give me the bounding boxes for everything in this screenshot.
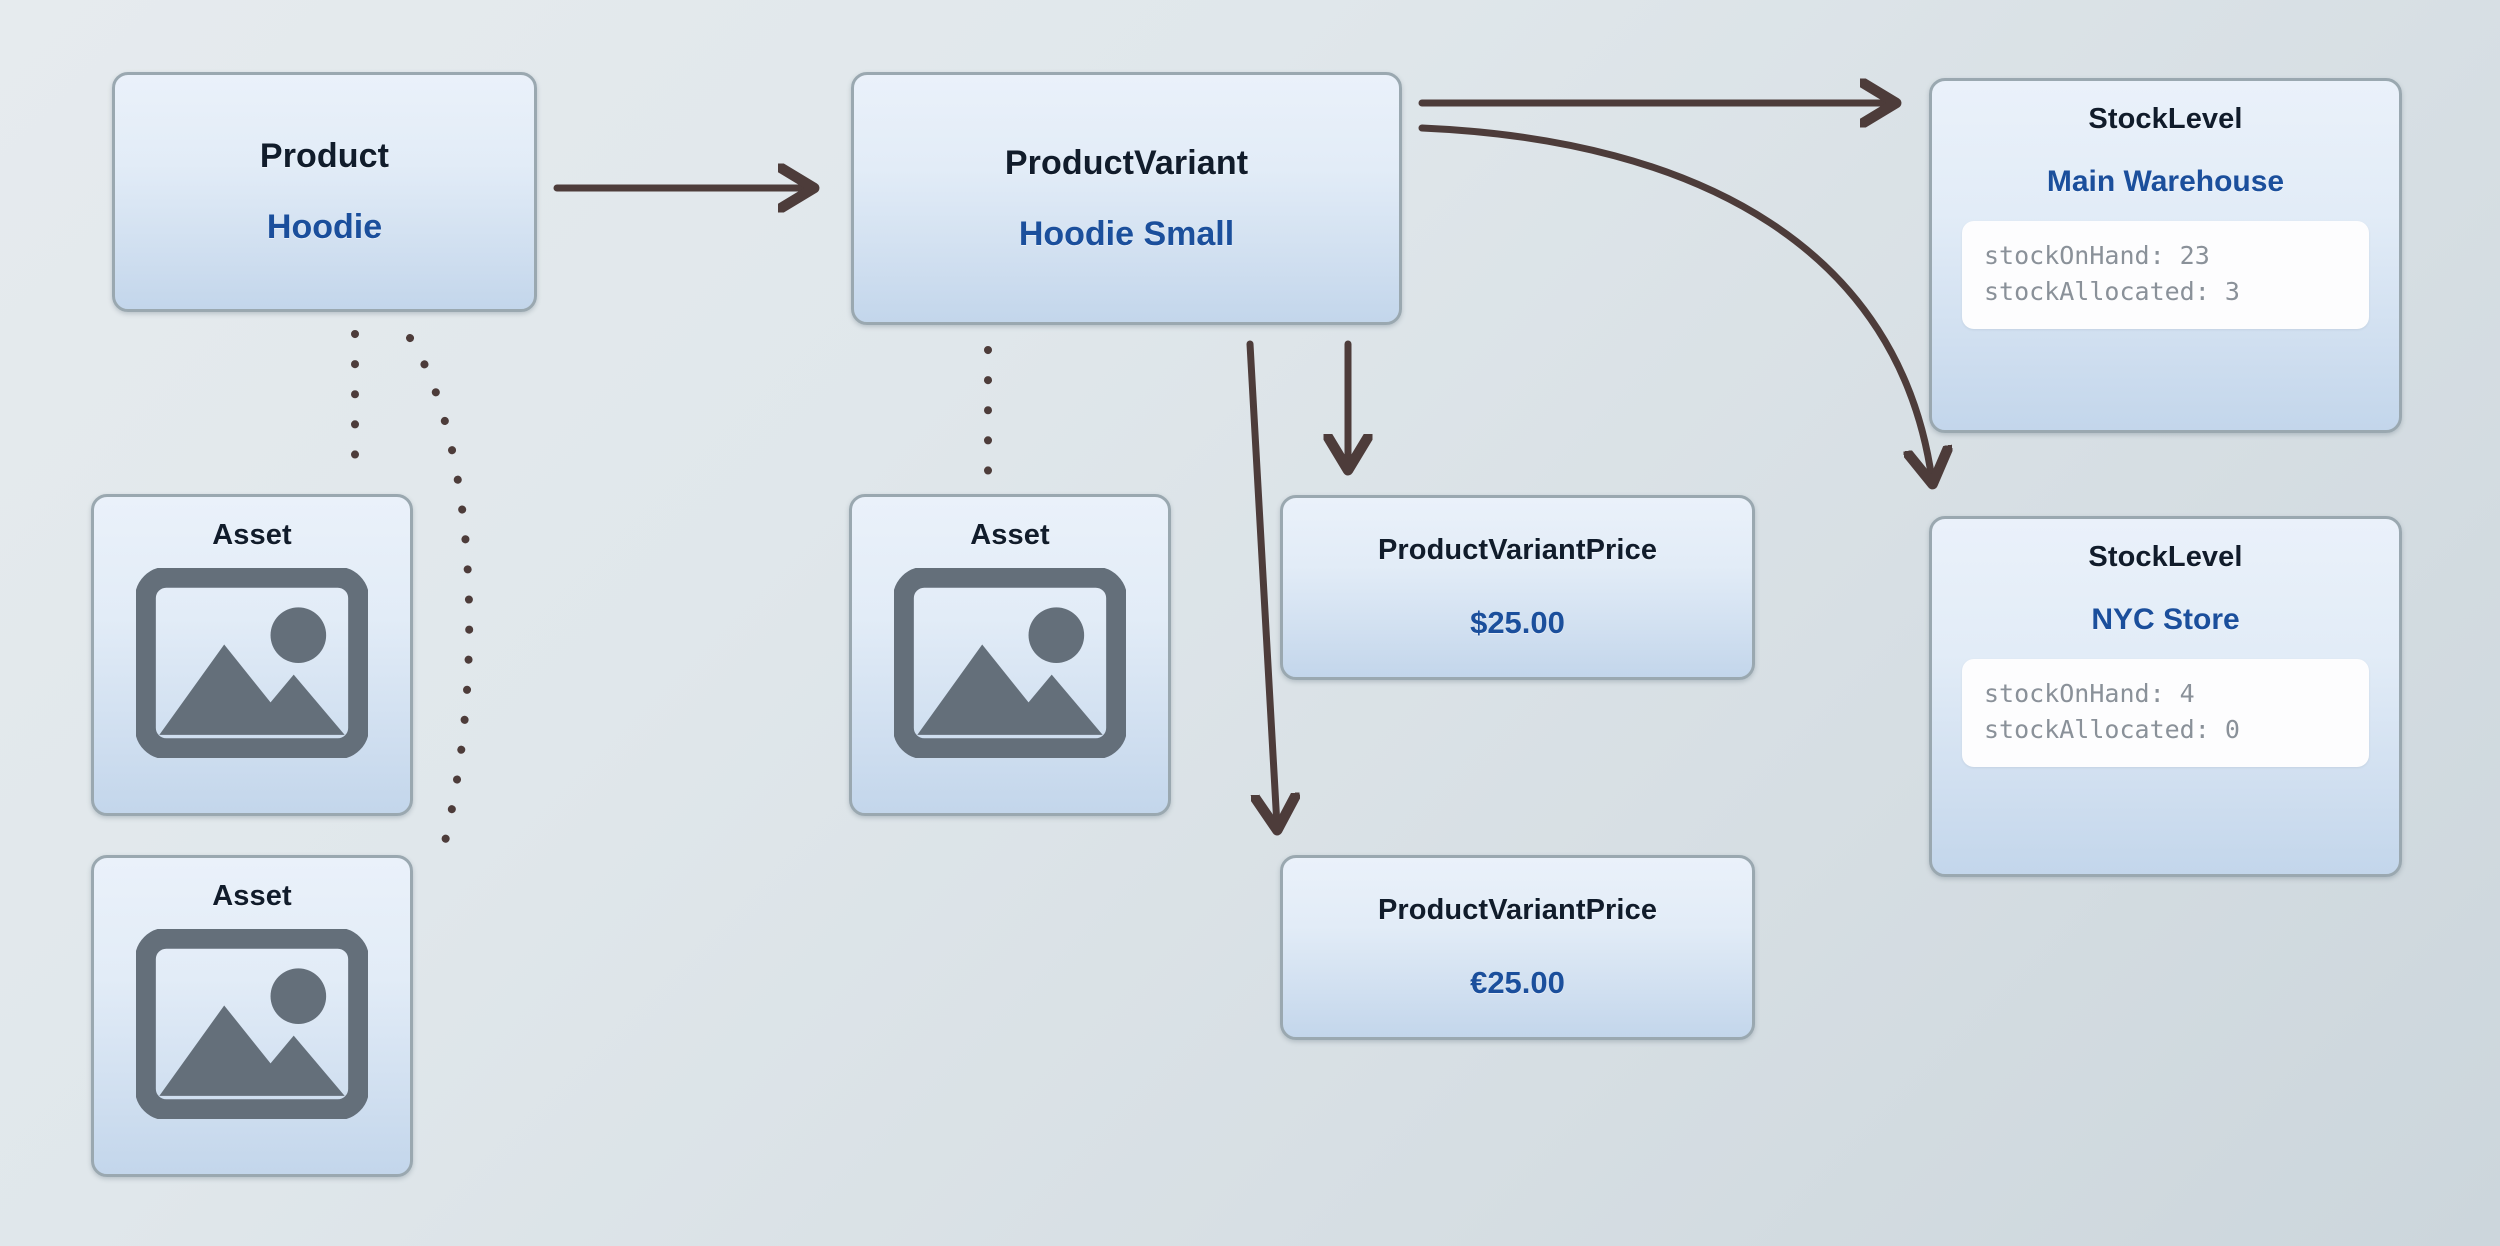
node-stock-nyc-subtitle: NYC Store: [2091, 603, 2239, 637]
node-stock-main-warehouse[interactable]: StockLevel Main Warehouse stockOnHand: 2…: [1929, 78, 2402, 433]
node-stock-main-subtitle: Main Warehouse: [2047, 165, 2284, 199]
stock-main-fields: stockOnHand: 23 stockAllocated: 3: [1962, 221, 2369, 329]
node-stock-nyc-title: StockLevel: [2088, 541, 2242, 574]
edge-product-to-asset-2: [410, 338, 469, 862]
node-asset-variant-1[interactable]: Asset: [849, 494, 1171, 816]
edge-variant-to-price-eur: [1250, 344, 1277, 826]
node-stock-nyc-store[interactable]: StockLevel NYC Store stockOnHand: 4 stoc…: [1929, 516, 2402, 877]
node-asset-product-2-title: Asset: [212, 880, 292, 913]
node-product-variant[interactable]: ProductVariant Hoodie Small: [851, 72, 1402, 325]
node-asset-variant-1-title: Asset: [970, 519, 1050, 552]
node-price-eur[interactable]: ProductVariantPrice €25.00: [1280, 855, 1755, 1040]
node-product-variant-title: ProductVariant: [1005, 144, 1248, 183]
node-product[interactable]: Product Hoodie: [112, 72, 537, 312]
entity-relationship-diagram: Product Hoodie ProductVariant Hoodie Sma…: [0, 0, 2500, 1246]
node-product-variant-subtitle: Hoodie Small: [1019, 215, 1234, 254]
node-price-usd[interactable]: ProductVariantPrice $25.00: [1280, 495, 1755, 680]
node-price-usd-value: $25.00: [1470, 605, 1565, 641]
node-product-title: Product: [260, 137, 389, 176]
stock-nyc-on-hand: stockOnHand: 4: [1984, 676, 2349, 712]
image-placeholder-icon: [136, 929, 368, 1119]
stock-nyc-fields: stockOnHand: 4 stockAllocated: 0: [1962, 659, 2369, 767]
node-price-usd-title: ProductVariantPrice: [1378, 534, 1657, 567]
stock-main-allocated: stockAllocated: 3: [1984, 274, 2349, 310]
node-stock-main-title: StockLevel: [2088, 103, 2242, 136]
node-price-eur-value: €25.00: [1470, 965, 1565, 1001]
node-price-eur-title: ProductVariantPrice: [1378, 894, 1657, 927]
image-placeholder-icon: [136, 568, 368, 758]
edge-variant-to-stock-nyc: [1422, 128, 1932, 480]
stock-nyc-allocated: stockAllocated: 0: [1984, 712, 2349, 748]
image-placeholder-icon: [894, 568, 1126, 758]
node-asset-product-1-title: Asset: [212, 519, 292, 552]
node-asset-product-1[interactable]: Asset: [91, 494, 413, 816]
node-product-subtitle: Hoodie: [267, 208, 382, 247]
stock-main-on-hand: stockOnHand: 23: [1984, 238, 2349, 274]
node-asset-product-2[interactable]: Asset: [91, 855, 413, 1177]
